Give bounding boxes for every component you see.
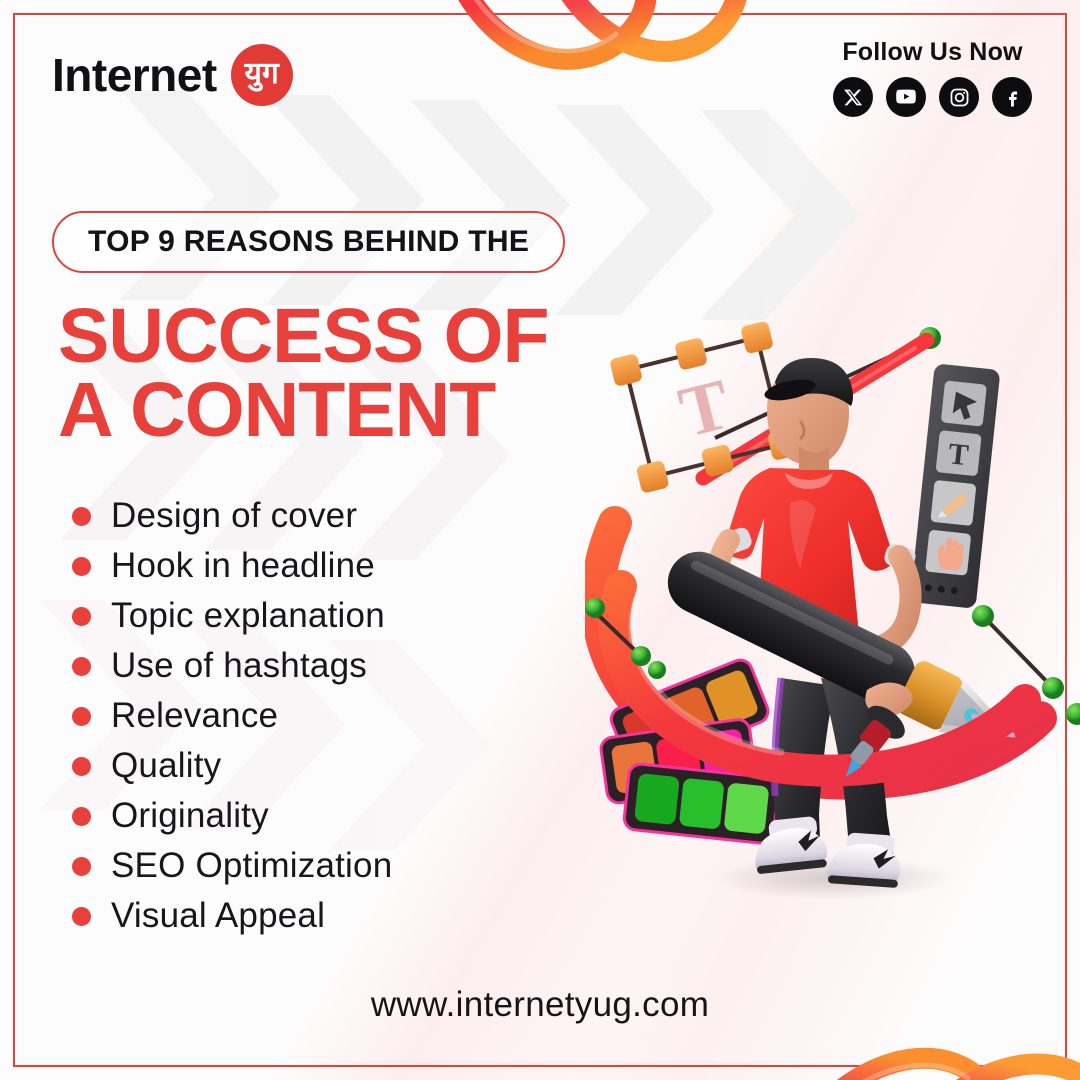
tool-panel: T xyxy=(910,363,1001,609)
instagram-icon[interactable] xyxy=(939,77,979,117)
list-item: Topic explanation xyxy=(72,595,392,637)
list-item-label: Visual Appeal xyxy=(111,896,325,936)
bullet-dot-icon xyxy=(72,907,91,926)
page-title: SUCCESS OF A CONTENT xyxy=(58,300,549,448)
badge-label: TOP 9 REASONS BEHIND THE xyxy=(88,225,529,259)
bullet-dot-icon xyxy=(72,657,91,676)
list-item: Relevance xyxy=(72,695,392,737)
follow-us-block: Follow Us Now xyxy=(833,38,1032,117)
reasons-list: Design of cover Hook in headline Topic e… xyxy=(72,495,392,937)
social-icon-row xyxy=(833,77,1032,117)
list-item: Use of hashtags xyxy=(72,645,392,687)
title-line-1: SUCCESS OF xyxy=(58,300,549,374)
list-item: Design of cover xyxy=(72,495,392,537)
logo-badge-icon: युग xyxy=(231,44,293,106)
svg-text:T: T xyxy=(672,364,738,453)
hero-illustration: T T xyxy=(585,318,1080,918)
bullet-dot-icon xyxy=(72,857,91,876)
list-item-label: Originality xyxy=(111,796,269,836)
headline-badge: TOP 9 REASONS BEHIND THE xyxy=(52,211,565,273)
facebook-icon[interactable] xyxy=(992,77,1032,117)
list-item-label: Use of hashtags xyxy=(111,646,367,686)
bezier-node xyxy=(648,661,666,679)
list-item-label: SEO Optimization xyxy=(111,846,392,886)
follow-us-label: Follow Us Now xyxy=(842,38,1022,67)
brand-logo[interactable]: Internet युग xyxy=(52,44,293,106)
bullet-dot-icon xyxy=(72,707,91,726)
bullet-dot-icon xyxy=(72,557,91,576)
youtube-icon[interactable] xyxy=(886,77,926,117)
bullet-dot-icon xyxy=(72,507,91,526)
bullet-dot-icon xyxy=(72,807,91,826)
list-item-label: Relevance xyxy=(111,696,278,736)
list-item: Originality xyxy=(72,795,392,837)
poster-canvas: Internet युग Follow Us Now xyxy=(0,0,1080,1080)
ribbon-decoration-top xyxy=(420,0,780,102)
bullet-dot-icon xyxy=(72,607,91,626)
list-item-label: Hook in headline xyxy=(111,546,375,586)
list-item: Visual Appeal xyxy=(72,895,392,937)
list-item-label: Design of cover xyxy=(111,496,357,536)
list-item: Hook in headline xyxy=(72,545,392,587)
list-item: SEO Optimization xyxy=(72,845,392,887)
list-item-label: Topic explanation xyxy=(111,596,385,636)
website-url[interactable]: www.internetyug.com xyxy=(0,985,1080,1025)
x-twitter-icon[interactable] xyxy=(833,77,873,117)
svg-text:T: T xyxy=(947,437,970,472)
logo-wordmark: Internet xyxy=(52,52,217,98)
list-item-label: Quality xyxy=(111,746,221,786)
title-line-2: A CONTENT xyxy=(58,374,549,448)
bullet-dot-icon xyxy=(72,757,91,776)
list-item: Quality xyxy=(72,745,392,787)
